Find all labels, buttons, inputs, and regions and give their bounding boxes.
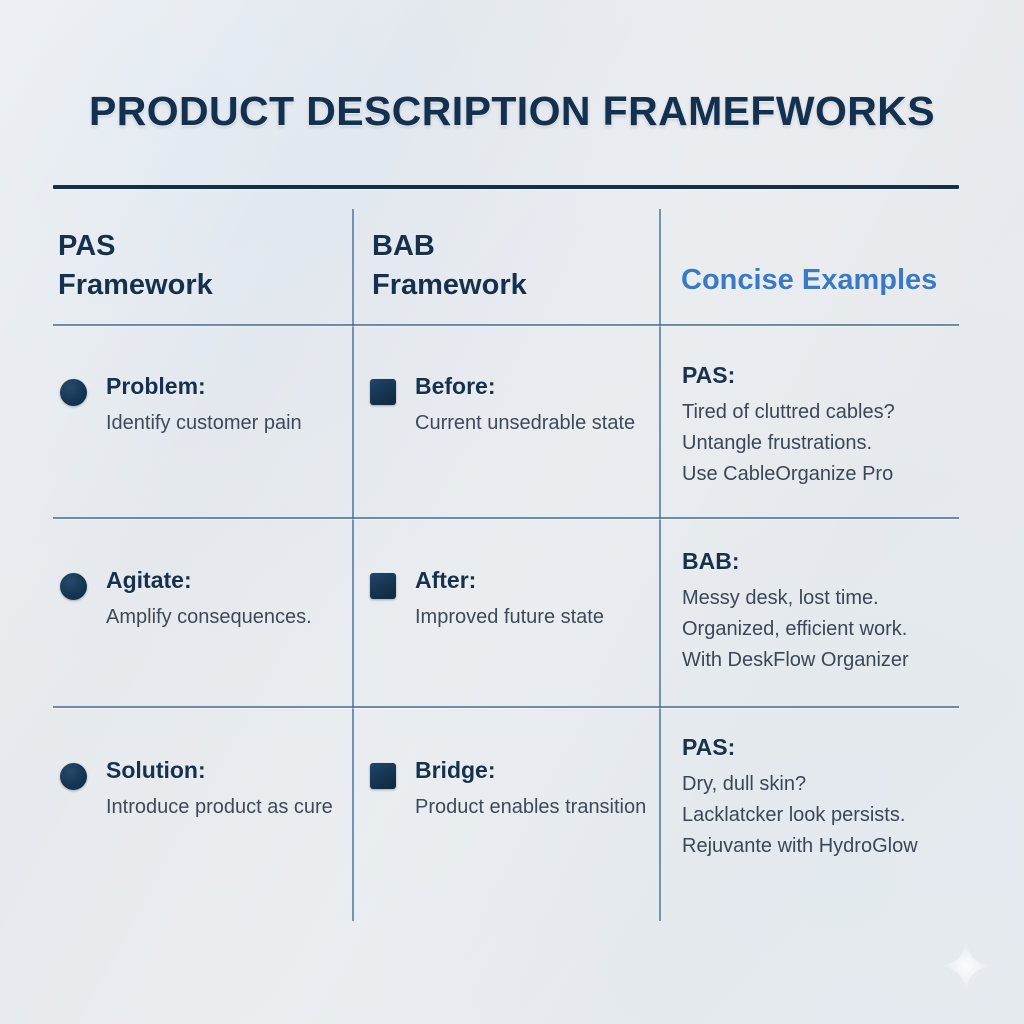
bab-desc-after: Improved future state: [415, 602, 604, 634]
column-header-bab-line1: BAB: [372, 230, 435, 262]
title-underline: [53, 185, 959, 189]
column-header-pas-line2: Framework: [58, 266, 213, 305]
bab-term-before: Before:: [415, 373, 635, 401]
square-bullet-icon: [370, 379, 396, 405]
example-line-3-1: Dry, dull skin?: [682, 769, 918, 800]
circle-bullet-icon: [60, 573, 87, 600]
column-divider-1: [352, 209, 354, 921]
column-header-examples: Concise Examples: [681, 261, 937, 300]
example-line-2-3: With DeskFlow Organizer: [682, 645, 909, 676]
column-header-bab-line2: Framework: [372, 266, 527, 305]
infographic-canvas: PRODUCT DESCRIPTION FRAMEFWORKS PAS Fram…: [0, 0, 1024, 1024]
example-label-2: BAB:: [682, 548, 909, 576]
pas-cell-agitate: Agitate: Amplify consequences.: [60, 567, 312, 633]
example-line-3-3: Rejuvante with HydroGlow: [682, 831, 918, 862]
column-header-examples-line1: Concise Examples: [681, 264, 937, 296]
header-divider: [53, 324, 959, 326]
example-line-3-2: Lacklatcker look persists.: [682, 800, 918, 831]
bab-cell-after: After: Improved future state: [370, 567, 604, 633]
example-line-1-3: Use CableOrganize Pro: [682, 459, 895, 490]
pas-term-solution: Solution:: [106, 757, 333, 785]
pas-term-problem: Problem:: [106, 373, 302, 401]
pas-desc-agitate: Amplify consequences.: [106, 602, 312, 634]
example-cell-1: PAS: Tired of cluttred cables? Untangle …: [682, 362, 895, 490]
pas-cell-problem: Problem: Identify customer pain: [60, 373, 302, 439]
example-line-2-1: Messy desk, lost time.: [682, 583, 909, 614]
bab-cell-bridge: Bridge: Product enables transition: [370, 757, 646, 823]
example-line-1-1: Tired of cluttred cables?: [682, 397, 895, 428]
column-header-pas: PAS Framework: [58, 227, 213, 304]
example-label-1: PAS:: [682, 362, 895, 390]
pas-desc-problem: Identify customer pain: [106, 408, 302, 440]
bab-term-bridge: Bridge:: [415, 757, 646, 785]
column-header-pas-line1: PAS: [58, 230, 115, 262]
pas-term-agitate: Agitate:: [106, 567, 312, 595]
circle-bullet-icon: [60, 379, 87, 406]
column-header-bab: BAB Framework: [372, 227, 527, 304]
example-line-1-2: Untangle frustrations.: [682, 428, 895, 459]
bab-cell-before: Before: Current unsedrable state: [370, 373, 635, 439]
row-divider-1: [53, 517, 959, 519]
pas-cell-solution: Solution: Introduce product as cure: [60, 757, 333, 823]
bab-desc-bridge: Product enables transition: [415, 792, 646, 824]
bab-desc-before: Current unsedrable state: [415, 408, 635, 440]
sparkle-icon: [940, 940, 992, 992]
example-cell-3: PAS: Dry, dull skin? Lacklatcker look pe…: [682, 734, 918, 862]
example-cell-2: BAB: Messy desk, lost time. Organized, e…: [682, 548, 909, 676]
pas-desc-solution: Introduce product as cure: [106, 792, 333, 824]
square-bullet-icon: [370, 573, 396, 599]
background-sheen: [0, 0, 1024, 1024]
example-label-3: PAS:: [682, 734, 918, 762]
example-line-2-2: Organized, efficient work.: [682, 614, 909, 645]
bab-term-after: After:: [415, 567, 604, 595]
column-divider-2: [659, 209, 661, 921]
row-divider-2: [53, 706, 959, 708]
page-title: PRODUCT DESCRIPTION FRAMEFWORKS: [0, 88, 1024, 135]
square-bullet-icon: [370, 763, 396, 789]
circle-bullet-icon: [60, 763, 87, 790]
